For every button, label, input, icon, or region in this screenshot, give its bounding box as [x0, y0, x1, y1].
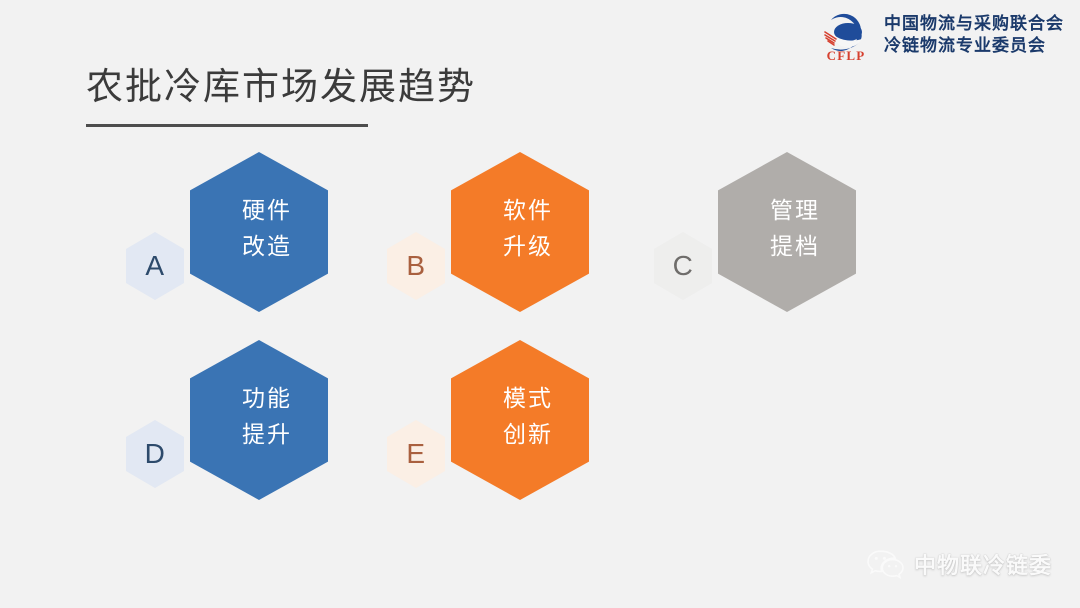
hexagon-label-e: 模式 创新 [503, 382, 553, 453]
hexagon-badge-c-letter: C [673, 250, 694, 282]
hexagon-shape-e[interactable]: 模式 创新 [451, 340, 589, 500]
hexagon-label-d: 功能 提升 [242, 382, 292, 453]
hexagon-label-e-line2: 创新 [503, 418, 553, 454]
organization-logo: CFLP 中国物流与采购联合会 冷链物流专业委员会 [818, 8, 1064, 64]
hexagon-label-e-line1: 模式 [503, 386, 553, 412]
hexagon-label-d-line1: 功能 [242, 386, 292, 412]
hexagon-badge-d-letter: D [145, 438, 166, 470]
hexagon-label-b-line2: 升级 [503, 230, 553, 266]
hexagon-label-a-line1: 硬件 [242, 198, 292, 224]
logo-text-block: 中国物流与采购联合会 冷链物流专业委员会 [884, 14, 1064, 58]
hexagon-label-a: 硬件 改造 [242, 194, 292, 265]
title-underline [86, 124, 368, 127]
hexagon-label-c: 管理 提档 [770, 194, 820, 265]
hexagon-item-c[interactable]: 管理 提档 C [646, 152, 856, 322]
logo-line-1: 中国物流与采购联合会 [884, 14, 1064, 36]
hexagon-shape-b[interactable]: 软件 升级 [451, 152, 589, 312]
hexagon-item-d[interactable]: 功能 提升 D [118, 340, 328, 510]
cflp-logo-icon: CFLP [818, 8, 874, 64]
wechat-watermark: 中物联冷链委 [866, 548, 1052, 580]
hexagon-item-a[interactable]: 硬件 改造 A [118, 152, 328, 322]
hexagon-badge-d[interactable]: D [126, 420, 184, 488]
hexagon-badge-a[interactable]: A [126, 232, 184, 300]
hexagon-label-b: 软件 升级 [503, 194, 553, 265]
hexagon-shape-d[interactable]: 功能 提升 [190, 340, 328, 500]
page-title: 农批冷库市场发展趋势 [86, 56, 476, 110]
hexagon-label-c-line1: 管理 [770, 198, 820, 224]
hexagon-shape-a[interactable]: 硬件 改造 [190, 152, 328, 312]
slide-canvas: CFLP 中国物流与采购联合会 冷链物流专业委员会 农批冷库市场发展趋势 硬件 … [0, 0, 1080, 608]
hexagon-badge-e[interactable]: E [387, 420, 445, 488]
wechat-icon [866, 548, 904, 580]
hexagon-badge-b[interactable]: B [387, 232, 445, 300]
hexagon-label-d-line2: 提升 [242, 418, 292, 454]
hexagon-label-a-line2: 改造 [242, 230, 292, 266]
svg-text:CFLP: CFLP [827, 48, 866, 63]
hexagon-badge-c[interactable]: C [654, 232, 712, 300]
wechat-watermark-text: 中物联冷链委 [914, 548, 1052, 580]
hexagon-badge-b-letter: B [406, 250, 425, 282]
title-block: 农批冷库市场发展趋势 [86, 56, 476, 127]
hexagon-item-e[interactable]: 模式 创新 E [379, 340, 589, 510]
hexagon-badge-a-letter: A [145, 250, 164, 282]
logo-line-2: 冷链物流专业委员会 [884, 36, 1064, 58]
hexagon-label-c-line2: 提档 [770, 230, 820, 266]
hexagon-shape-c[interactable]: 管理 提档 [718, 152, 856, 312]
hexagon-badge-e-letter: E [406, 438, 425, 470]
hexagon-label-b-line1: 软件 [503, 198, 553, 224]
hexagon-item-b[interactable]: 软件 升级 B [379, 152, 589, 322]
